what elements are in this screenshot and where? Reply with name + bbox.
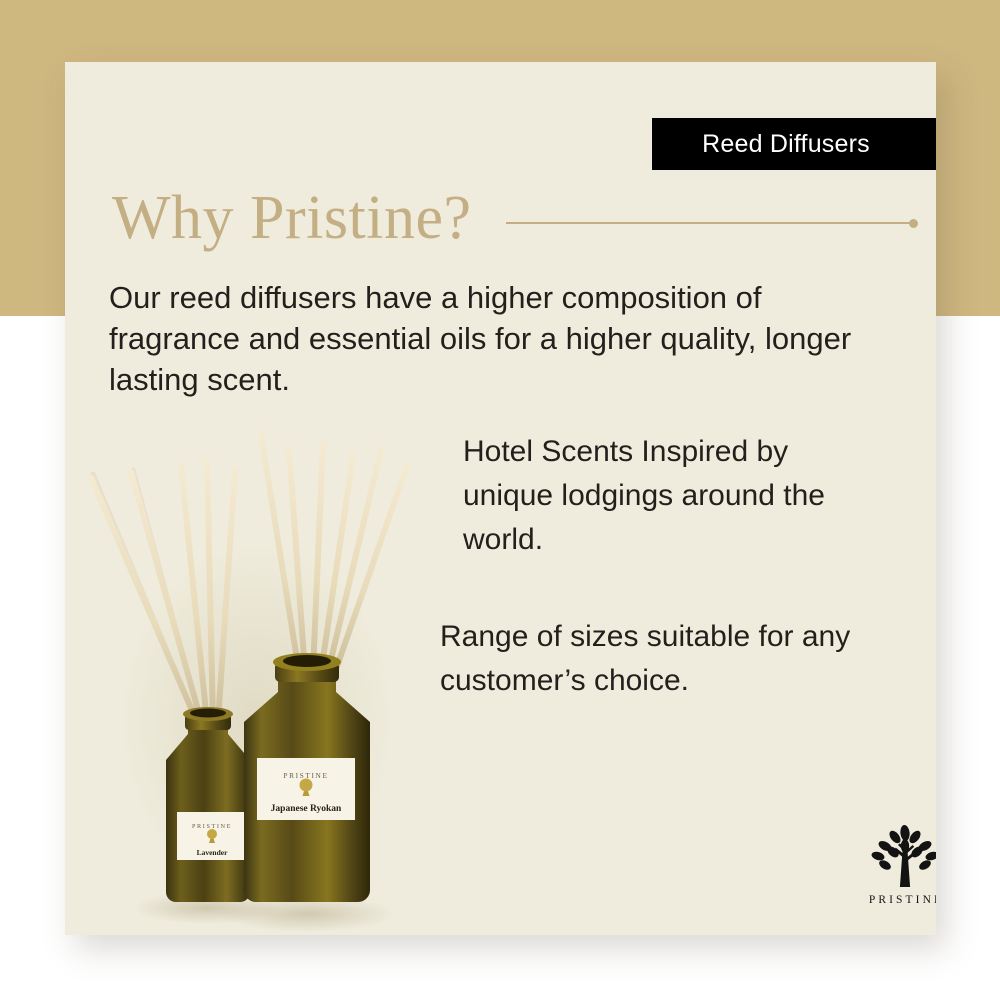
benefit-point-hotel-scents: Hotel Scents Inspired by unique lodgings… [463, 430, 863, 562]
brand-wordmark: PRISTINE [855, 894, 936, 906]
heading-rule [506, 219, 919, 228]
brand-logo: PRISTINE [855, 825, 936, 906]
tree-icon [869, 825, 936, 891]
rule-line [506, 222, 911, 224]
category-badge-label: Reed Diffusers [702, 130, 870, 159]
large-bottle: PRISTINE Japanese Ryokan [244, 653, 370, 902]
product-image: PRISTINE Lavender PRISTINE Japan [85, 422, 415, 935]
lead-paragraph: Our reed diffusers have a higher composi… [109, 277, 879, 400]
slide-canvas: Reed Diffusers Why Pristine? Our reed di… [0, 0, 1000, 1000]
small-bottle: PRISTINE Lavender [166, 707, 250, 902]
page-title: Why Pristine? [112, 187, 472, 249]
rule-end-dot [909, 219, 918, 228]
heading-row: Why Pristine? [112, 187, 918, 249]
content-card: Reed Diffusers Why Pristine? Our reed di… [65, 62, 936, 935]
benefit-point-size-range: Range of sizes suitable for any customer… [440, 615, 936, 703]
diffuser-bottles-icon: PRISTINE Lavender PRISTINE Japan [85, 422, 415, 935]
large-bottle-scent: Japanese Ryokan [271, 804, 342, 814]
category-badge: Reed Diffusers [652, 118, 936, 170]
small-bottle-brand: PRISTINE [192, 823, 232, 830]
small-bottle-scent: Lavender [197, 848, 229, 857]
